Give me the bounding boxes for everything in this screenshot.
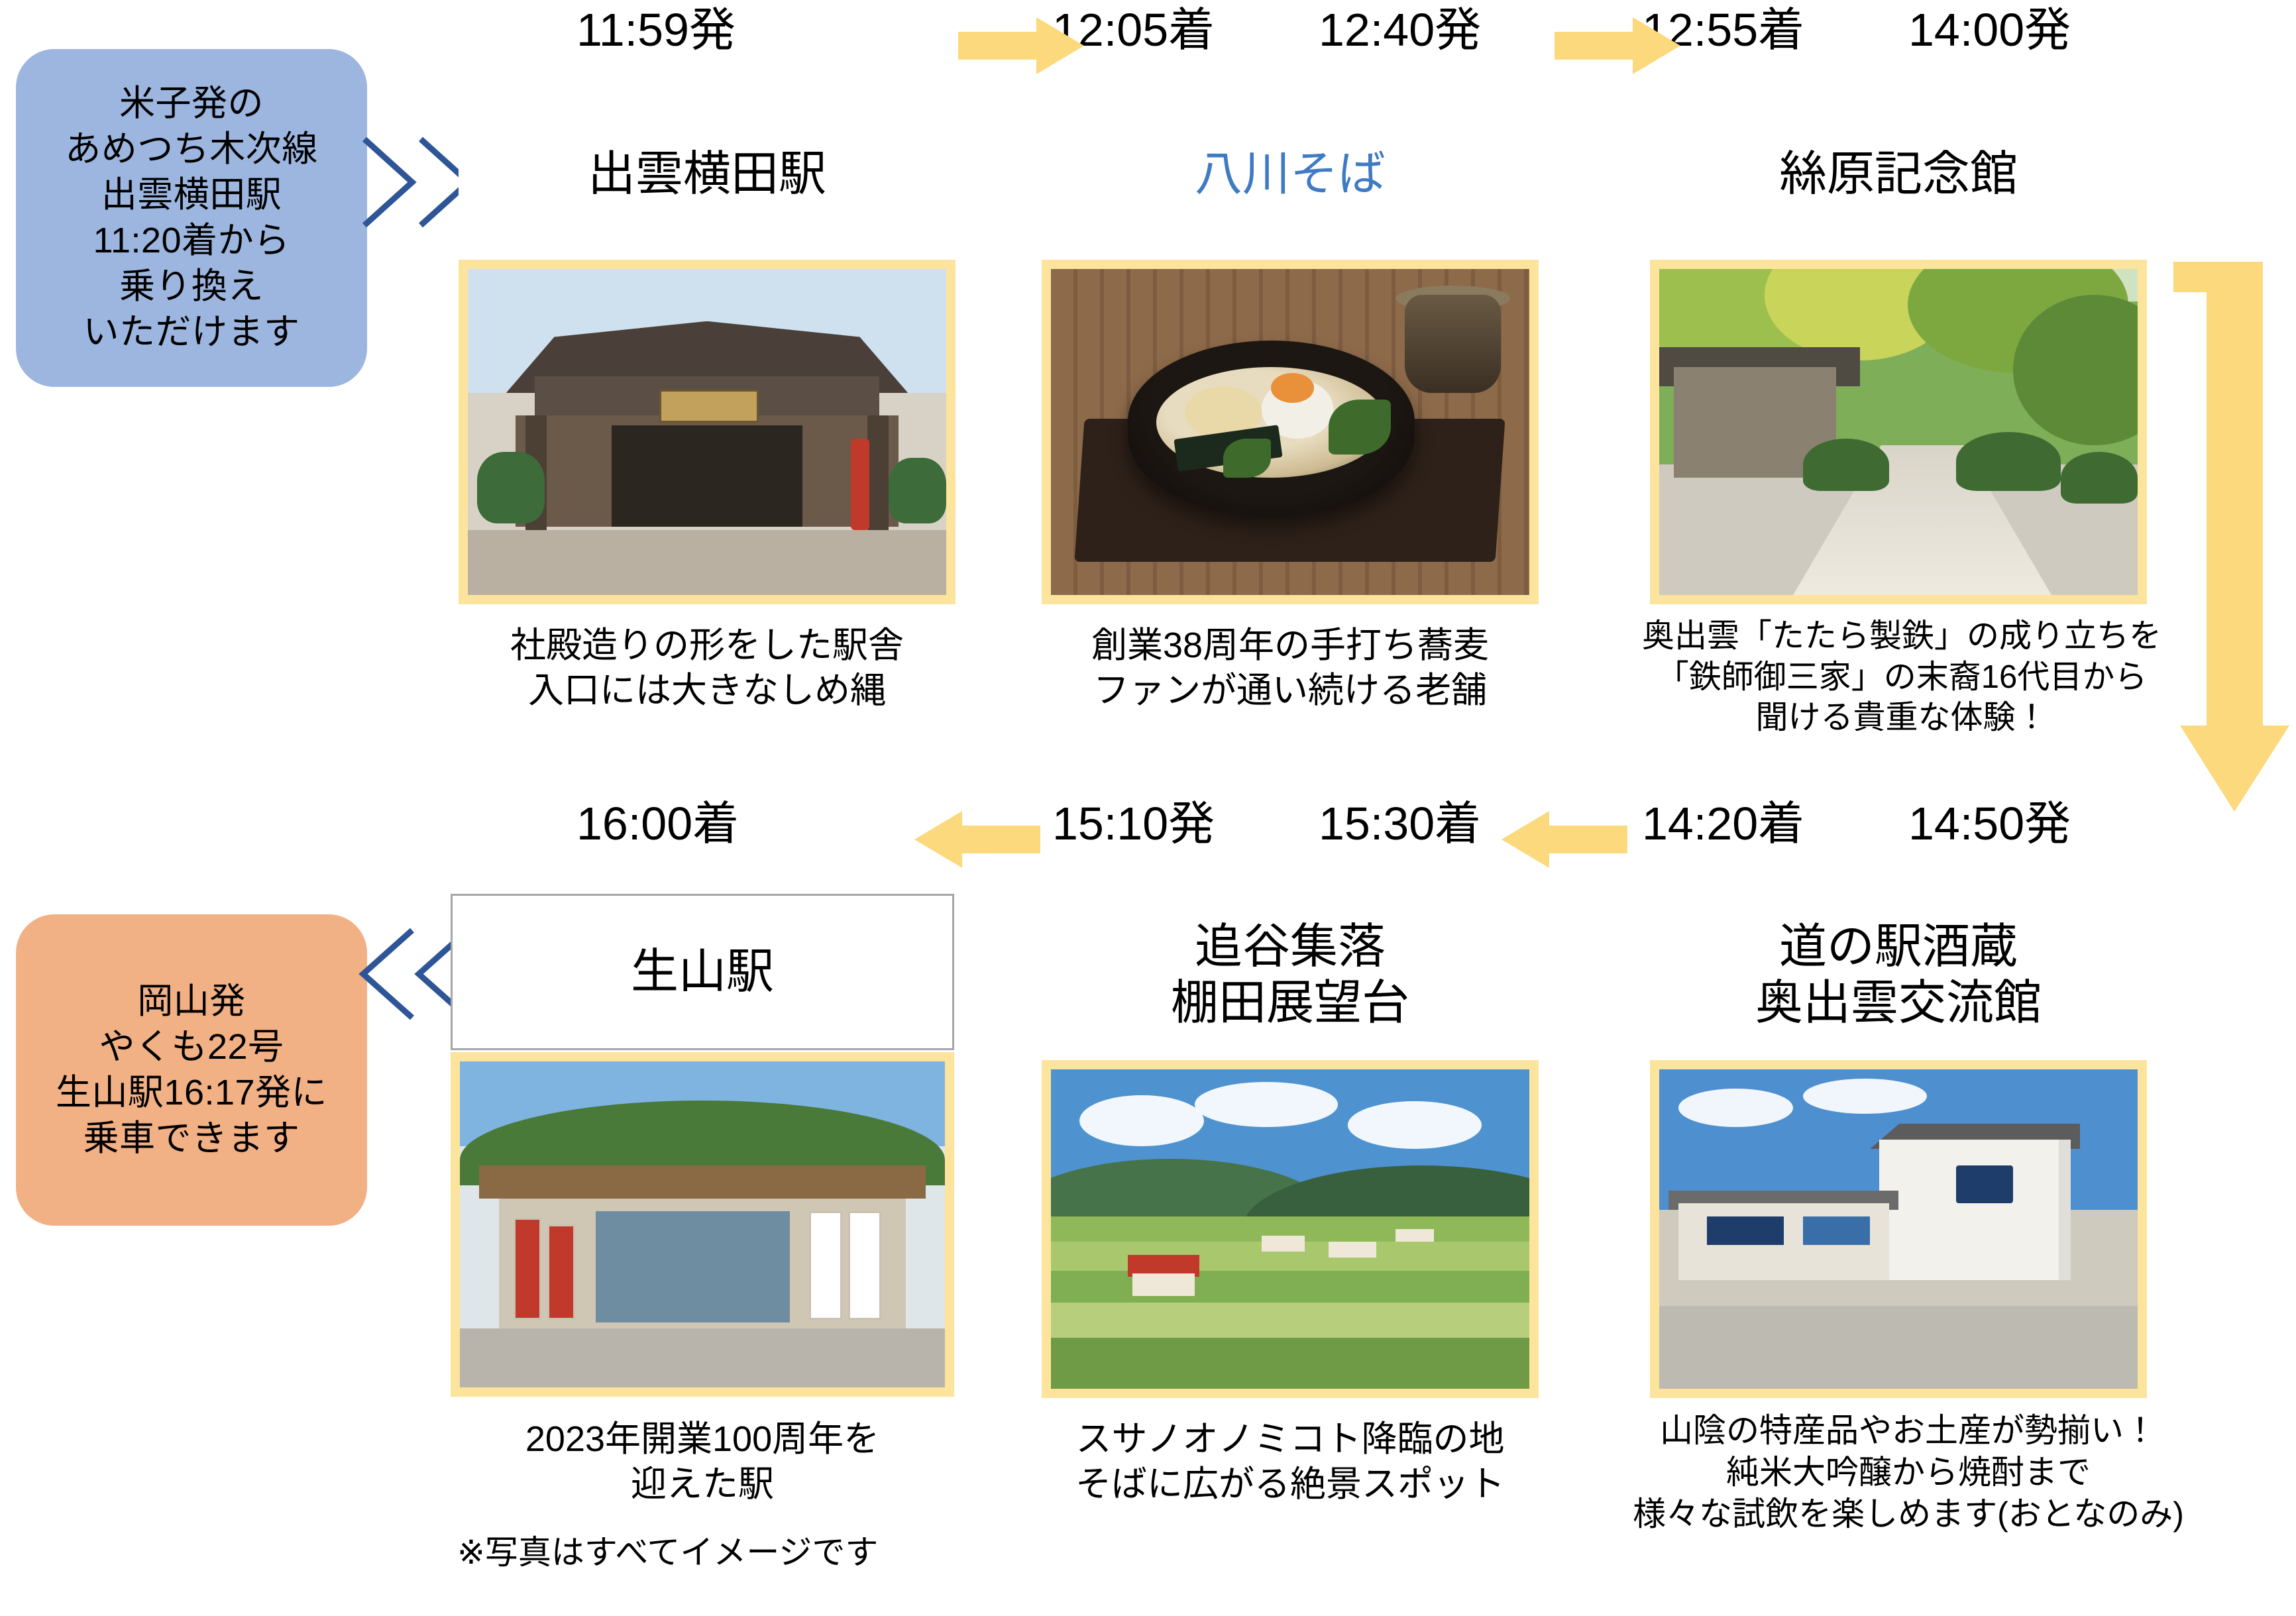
time-label-depart-oidani: 15:10発: [1052, 800, 1215, 847]
stop-photo-frame-oidani-tanada: [1042, 1060, 1539, 1398]
stop-title-frame-izumo-yokota: 出雲横田駅: [459, 98, 956, 250]
stop-caption-shoyama-station: 2023年開業100周年を 迎えた駅: [451, 1417, 954, 1507]
stop-photo-yakawa-soba: [1051, 269, 1529, 595]
image-footnote: ※写真はすべてイメージです: [457, 1536, 878, 1569]
time-label-arrive-michinoeki: 14:20着: [1642, 800, 1804, 847]
stop-title-frame-itohara-memorial: 絲原記念館: [1650, 98, 2147, 250]
arrow-left-1: [914, 811, 1040, 868]
stop-photo-frame-itohara-memorial: [1650, 260, 2147, 604]
time-label-arrive-shoyama: 16:00着: [576, 800, 739, 847]
stop-photo-frame-yakawa-soba: [1042, 260, 1539, 604]
stop-caption-michinoeki-sakagura: 山陰の特産品やお土産が勢揃い！ 純米大吟醸から焼酎まで 様々な試飲を楽しめます(…: [1584, 1410, 2233, 1535]
stop-title-yakawa-soba: 八川そば: [1042, 98, 1539, 250]
time-label-depart-yakawa: 12:40発: [1319, 7, 1481, 53]
arrow-left-2: [1502, 811, 1627, 868]
stop-photo-frame-izumo-yokota: [459, 260, 956, 604]
stop-caption-izumo-yokota: 社殿造りの形をした駅舎 入口には大きなしめ縄: [459, 623, 956, 713]
time-label-depart-michinoeki: 14:50発: [1908, 800, 2071, 847]
stop-title-michinoeki-sakagura: 道の駅酒蔵 奥出雲交流館: [1650, 896, 2147, 1055]
stop-title-itohara-memorial: 絲原記念館: [1650, 98, 2147, 250]
stop-photo-oidani-tanada: [1051, 1069, 1529, 1389]
time-label-arrive-oidani: 15:30着: [1319, 800, 1481, 847]
stop-caption-yakawa-soba: 創業38周年の手打ち蕎麦 ファンが通い続ける老舗: [1035, 623, 1545, 713]
stop-title-frame-michinoeki-sakagura: 道の駅酒蔵 奥出雲交流館: [1650, 896, 2147, 1055]
stop-photo-frame-michinoeki-sakagura: [1650, 1060, 2147, 1398]
stop-caption-itohara-memorial: 奥出雲「たたら製鉄」の成り立ちを 「鉄師御三家」の末裔16代目から 聞ける貴重な…: [1604, 616, 2200, 739]
stop-title-frame-yakawa-soba: 八川そば: [1042, 98, 1539, 250]
arrow-right-1: [958, 17, 1084, 74]
arrow-wrap-down-icon: [2173, 262, 2296, 832]
stop-title-izumo-yokota: 出雲横田駅: [459, 98, 956, 250]
time-label-depart-itohara: 14:00発: [1908, 7, 2071, 53]
stop-title-frame-shoyama-station: 生山駅: [451, 896, 954, 1048]
stop-photo-frame-shoyama-station: [451, 1052, 954, 1397]
end-callout: 岡山発 やくも22号 生山駅16:17発に 乗車できます: [16, 914, 367, 1226]
stop-photo-michinoeki-sakagura: [1659, 1069, 2138, 1389]
stop-title-frame-oidani-tanada: 追谷集落 棚田展望台: [1042, 896, 1539, 1055]
itinerary-diagram: 11:59発 12:05着 12:40発 12:55着 14:00発 米子発の …: [0, 0, 2296, 1616]
stop-photo-shoyama-station: [460, 1061, 945, 1387]
stop-caption-oidani-tanada: スサノオノミコト降臨の地 そばに広がる絶景スポット: [1035, 1417, 1545, 1507]
stop-photo-itohara-memorial: [1659, 269, 2138, 595]
stop-title-oidani-tanada: 追谷集落 棚田展望台: [1042, 896, 1539, 1055]
time-label-depart-izumo-yokota: 11:59発: [576, 7, 736, 53]
arrow-right-2: [1555, 17, 1680, 74]
stop-photo-izumo-yokota: [468, 269, 946, 595]
stop-title-shoyama-station: 生山駅: [451, 894, 954, 1050]
start-callout: 米子発の あめつち木次線 出雲横田駅 11:20着から 乗り換え いただけます: [16, 49, 367, 387]
